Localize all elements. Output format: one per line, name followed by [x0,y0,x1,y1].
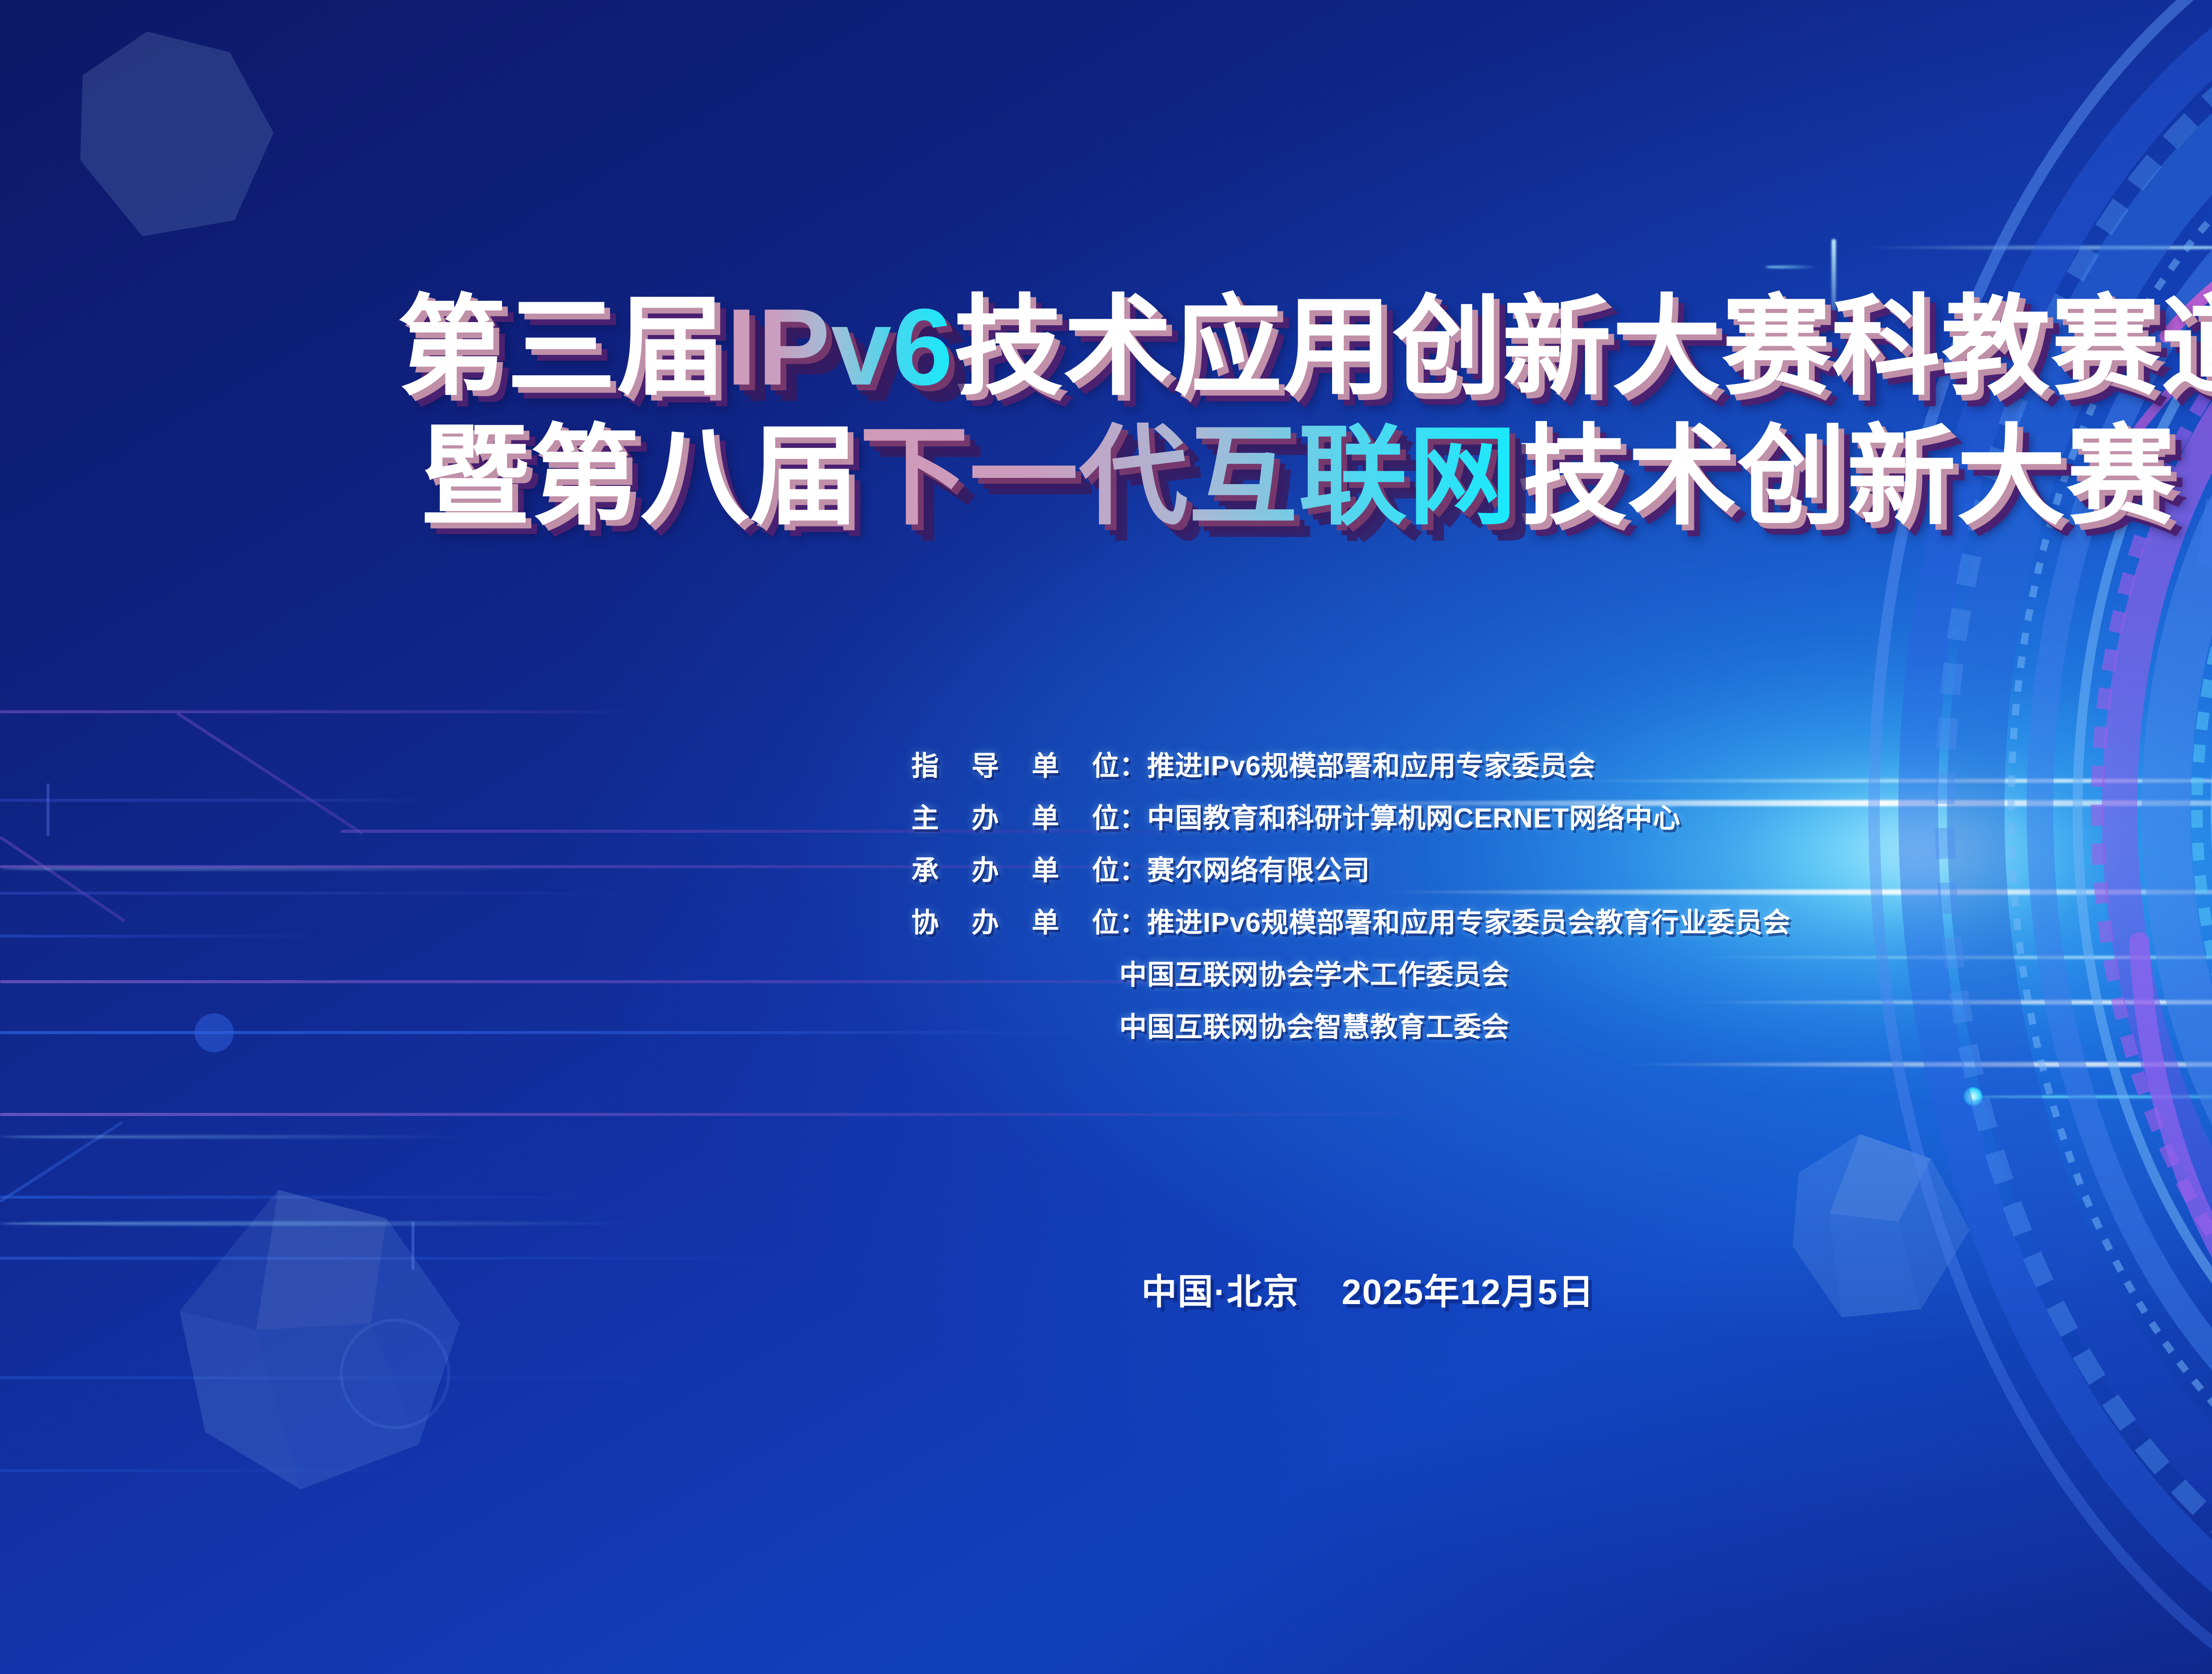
title-seg-2a: 暨第八届 [421,422,860,533]
event-footer: 中国·北京2025年12月5日 [1141,1263,1594,1315]
event-location: 中国·北京 [1141,1272,1299,1312]
organizer-separator: ： [1119,796,1147,835]
organizer-label: 承办单位 [911,848,1119,888]
title-line-2: 暨第八届下一代互联网技术创新大赛 [0,422,2212,533]
organizer-value: 中国教育和科研计算机网CERNET网络中心 [1147,796,1681,835]
event-date: 2025年12月5日 [1342,1272,1594,1312]
organizer-row: 指导单位 ： 推进IPv6规模部署和应用专家委员会 [911,743,1791,783]
organizer-separator: ： [1119,900,1147,940]
tech-ring-graphic [1830,0,2212,1674]
title-seg-1a: 第三届 [397,292,726,403]
title-seg-2c: 技术创新大赛 [1518,422,2176,533]
title-seg-1c: 技术应用创新大赛科教赛道 [954,292,2212,403]
organizer-list: 指导单位 ： 推进IPv6规模部署和应用专家委员会 主办单位 ： 中国教育和科研… [911,743,1791,1057]
crystal-shape-left [164,1177,482,1496]
organizer-row: 承办单位 ： 赛尔网络有限公司 [911,848,1791,888]
organizer-separator: ： [1119,743,1147,783]
organizer-row: 协办单位 ： 推进IPv6规模部署和应用专家委员会教育行业委员会 [911,900,1791,940]
title-seg-2b: 下一代互联网 [860,422,1518,533]
organizer-label: 主办单位 [911,796,1119,835]
organizer-value: 推进IPv6规模部署和应用专家委员会 [1147,743,1596,783]
organizer-extra-line: 中国互联网协会学术工作委员会 [1119,952,1791,992]
organizer-extra-line: 中国互联网协会智慧教育工委会 [1119,1004,1791,1044]
organizer-separator: ： [1119,848,1147,888]
poster-title: 第三届IPv6技术应用创新大赛科教赛道 暨第八届下一代互联网技术创新大赛 [0,292,2212,533]
crystal-shape-upper-left [62,18,292,248]
title-line-1: 第三届IPv6技术应用创新大赛科教赛道 [0,292,2212,403]
center-glow-hot [1747,779,2093,920]
organizer-row: 主办单位 ： 中国教育和科研计算机网CERNET网络中心 [911,796,1791,835]
organizer-label: 协办单位 [911,900,1119,940]
organizer-label: 指导单位 [911,743,1119,783]
organizer-value: 推进IPv6规模部署和应用专家委员会教育行业委员会 [1147,900,1791,940]
organizer-value: 赛尔网络有限公司 [1147,848,1370,888]
poster-canvas: IT 第三届IPv6技术应用创新大赛科教赛道 暨第八 [0,0,2212,1674]
title-seg-1b: IPv6 [726,292,954,403]
crystal-shape-center [1778,1124,1982,1328]
